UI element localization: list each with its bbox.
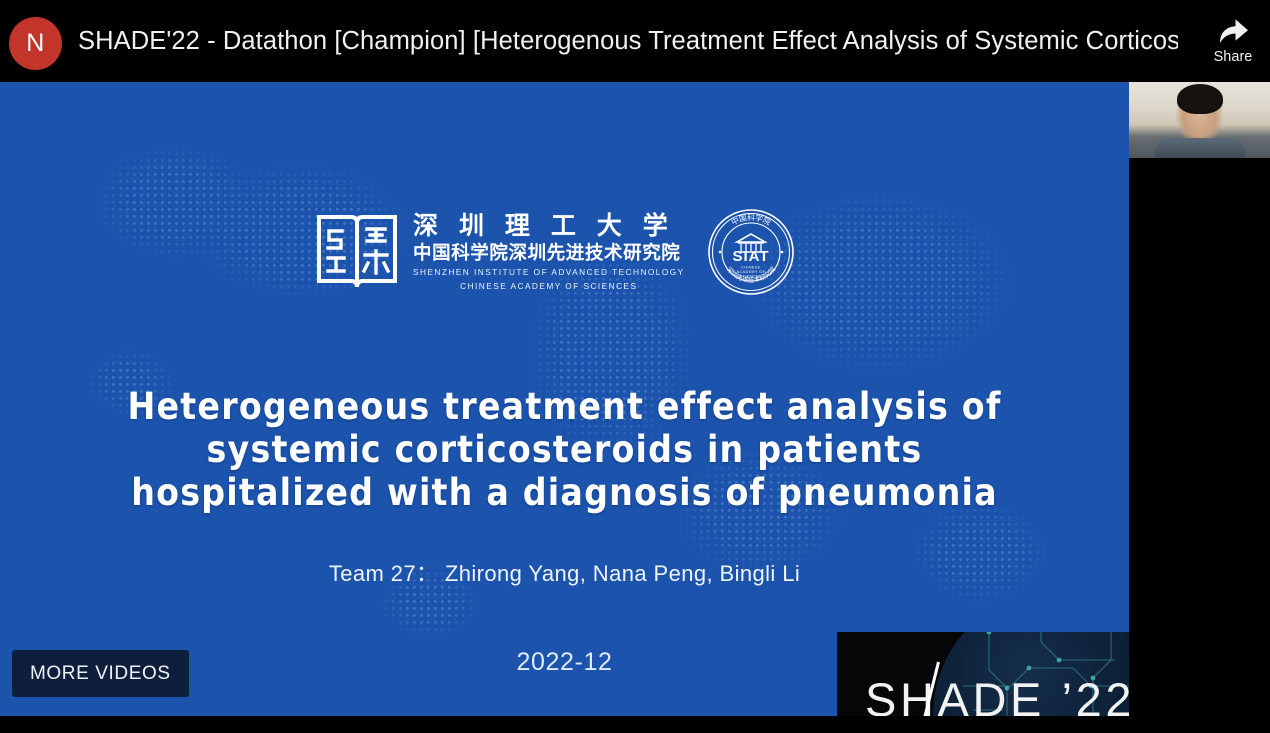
svg-text:CHINESE: CHINESE (741, 266, 761, 270)
presenter-webcam[interactable] (1129, 82, 1270, 158)
webcam-person-glasses (1181, 106, 1219, 116)
institute-name-en-line1: SHENZHEN INSTITUTE OF ADVANCED TECHNOLOG… (413, 267, 685, 278)
slide-title-line-3: hospitalized with a diagnosis of pneumon… (0, 474, 1129, 511)
shade-wordmark: SHADE ’22 (865, 676, 1129, 716)
video-player-page: N SHADE'22 - Datathon [Champion] [Hetero… (0, 0, 1270, 733)
siat-seal-icon: SIAT CHINESE ACADEMY OF SCIENCES 中国科学院 (707, 208, 795, 296)
video-surface[interactable]: 深 圳 理 工 大 学 中国科学院深圳先进技术研究院 SHENZHEN INST… (0, 82, 1270, 733)
share-label: Share (1204, 49, 1262, 65)
shade-wordmark-group: SHADE ’22 (865, 676, 1129, 716)
video-top-bar: N SHADE'22 - Datathon [Champion] [Hetero… (0, 0, 1270, 82)
slide-team-line: Team 27： Zhirong Yang, Nana Peng, Bingli… (0, 556, 1129, 588)
institute-name-cn: 中国科学院深圳先进技术研究院 (413, 241, 685, 264)
video-title[interactable]: SHADE'22 - Datathon [Champion] [Heteroge… (78, 0, 1178, 82)
university-logo-lockup: 深 圳 理 工 大 学 中国科学院深圳先进技术研究院 SHENZHEN INST… (315, 208, 795, 296)
svg-text:ACADEMY OF: ACADEMY OF (736, 270, 765, 274)
more-videos-button[interactable]: MORE VIDEOS (12, 650, 189, 697)
share-arrow-icon (1204, 16, 1262, 46)
shade-branding-panel: SHADE ’22 28 NOV - 4 DEC (837, 632, 1129, 716)
slide-title-line-1: Heterogeneous treatment effect analysis … (0, 388, 1129, 425)
university-text-block: 深 圳 理 工 大 学 中国科学院深圳先进技术研究院 SHENZHEN INST… (413, 212, 685, 293)
university-name-cn: 深 圳 理 工 大 学 (413, 212, 685, 240)
slide-main-title: Heterogeneous treatment effect analysis … (0, 388, 1129, 517)
webcam-person-torso (1155, 138, 1245, 158)
channel-avatar[interactable]: N (9, 17, 62, 70)
svg-text:SIAT: SIAT (732, 248, 769, 265)
institute-name-en-line2: CHINESE ACADEMY OF SCIENCES (413, 281, 685, 292)
svg-text:中国科学院: 中国科学院 (729, 212, 773, 227)
shenzhen-book-logo-icon (315, 211, 399, 293)
presentation-slide: 深 圳 理 工 大 学 中国科学院深圳先进技术研究院 SHENZHEN INST… (0, 82, 1129, 716)
slide-title-line-2: systemic corticosteroids in patients (0, 431, 1129, 468)
share-button[interactable]: Share (1204, 10, 1262, 74)
